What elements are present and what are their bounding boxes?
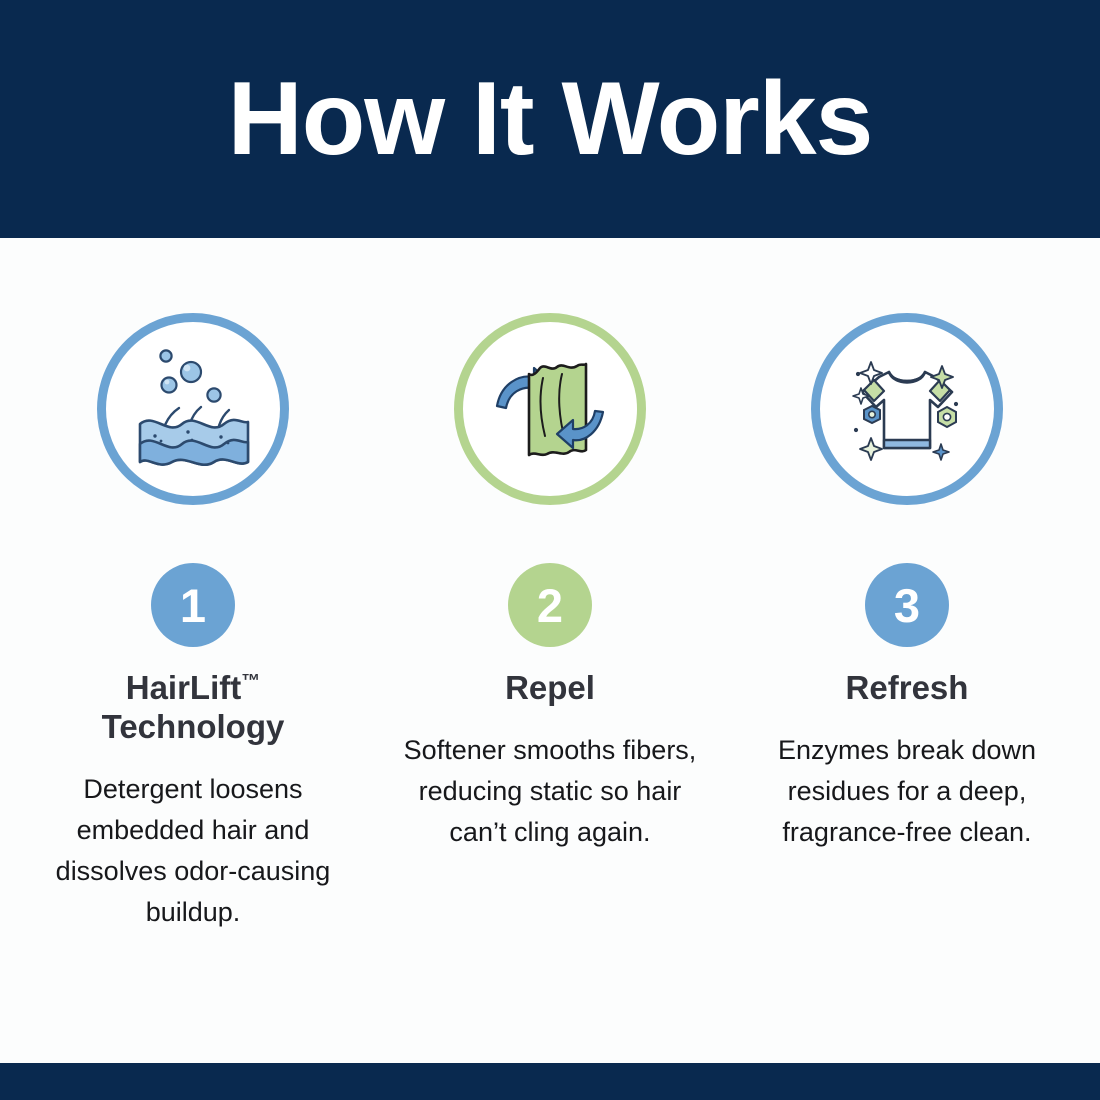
steps-columns: 1 HairLift™ Technology Detergent loosens…	[0, 238, 1100, 933]
steps-section: 1 HairLift™ Technology Detergent loosens…	[0, 238, 1100, 1063]
step-2-description: Softener smooths fibers, reducing static…	[395, 730, 705, 853]
step-2-heading-line1: Repel	[505, 669, 595, 706]
bottom-banner	[0, 1063, 1100, 1100]
fabric-repel-arrows-icon	[485, 344, 615, 474]
step-3-heading: Refresh	[846, 669, 969, 708]
clean-tshirt-sparkles-icon	[842, 344, 972, 474]
step-3-icon-ring	[811, 313, 1003, 505]
step-1-heading-line1: HairLift	[126, 669, 242, 706]
step-1-icon-ring	[97, 313, 289, 505]
step-1-heading-line2: Technology	[102, 708, 285, 745]
step-3-number-badge: 3	[865, 563, 949, 647]
step-2-number-badge: 2	[508, 563, 592, 647]
step-card-2: 2 Repel Softener smooths fibers, reducin…	[375, 238, 725, 933]
step-card-3: 3 Refresh Enzymes break down residues fo…	[732, 238, 1082, 933]
step-1-description: Detergent loosens embedded hair and diss…	[23, 769, 363, 933]
trademark-symbol: ™	[241, 671, 260, 692]
step-1-heading: HairLift™ Technology	[102, 669, 285, 747]
step-3-description: Enzymes break down residues for a deep, …	[747, 730, 1067, 853]
step-card-1: 1 HairLift™ Technology Detergent loosens…	[18, 238, 368, 933]
step-2-icon-ring	[454, 313, 646, 505]
step-2-heading: Repel	[505, 669, 595, 708]
step-3-heading-line1: Refresh	[846, 669, 969, 706]
page-title: How It Works	[228, 67, 873, 171]
top-banner: How It Works	[0, 0, 1100, 238]
step-1-number-badge: 1	[151, 563, 235, 647]
water-waves-bubbles-icon	[128, 344, 258, 474]
